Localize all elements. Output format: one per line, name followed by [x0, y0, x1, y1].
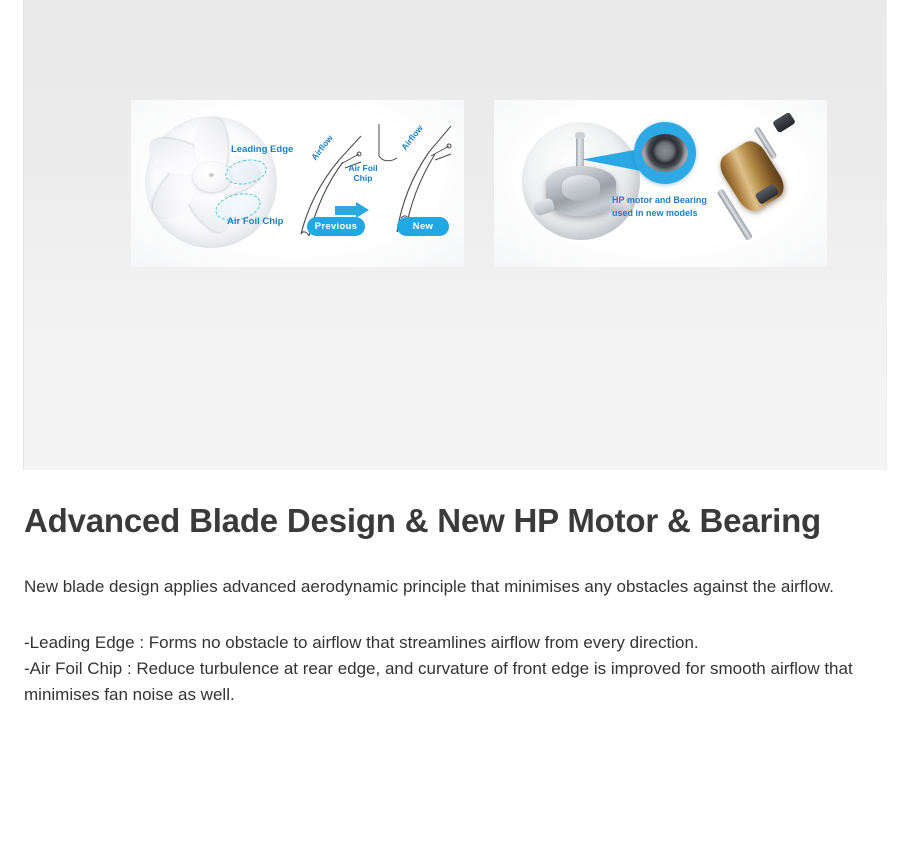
- rotor-nut-icon: [772, 112, 796, 134]
- blade-design-image-card: Leading Edge Air Foil Chip: [131, 100, 464, 267]
- hp-motor-illustration: HP motor and Bearing used in new models: [494, 100, 827, 267]
- leading-edge-label: Leading Edge: [231, 144, 293, 155]
- fan-illustration: [139, 106, 289, 261]
- hero-media-band: Leading Edge Air Foil Chip: [23, 0, 887, 470]
- feature-bullets-paragraph: -Leading Edge : Forms no obstacle to air…: [24, 630, 880, 709]
- new-badge: New: [397, 217, 449, 236]
- hp-motor-caption: HP motor and Bearing used in new models: [612, 194, 707, 220]
- intro-paragraph: New blade design applies advanced aerody…: [24, 574, 880, 600]
- motor-body-icon: [546, 166, 616, 216]
- arrow-right-icon: [335, 202, 369, 218]
- previous-badge: Previous: [307, 217, 365, 236]
- bearing-callout-circle: [634, 122, 696, 184]
- ball-bearing-icon: [642, 134, 688, 172]
- blade-design-illustration: Leading Edge Air Foil Chip: [131, 100, 464, 267]
- air-foil-chip-label: Air Foil Chip: [227, 216, 283, 227]
- air-foil-chip-callout-label: Air FoilChip: [347, 164, 379, 184]
- rotor-photo: [706, 114, 818, 256]
- media-cards-row: Leading Edge Air Foil Chip: [131, 100, 827, 267]
- article-content: Advanced Blade Design & New HP Motor & B…: [24, 500, 880, 709]
- hp-motor-image-card: HP motor and Bearing used in new models: [494, 100, 827, 267]
- hp-motor-caption-line1: HP motor and Bearing: [612, 194, 707, 207]
- motor-mount-foot-icon: [532, 197, 555, 216]
- hp-motor-caption-line2: used in new models: [612, 207, 707, 220]
- motor-assembly-photo: [522, 122, 640, 240]
- page-title: Advanced Blade Design & New HP Motor & B…: [24, 500, 880, 542]
- airfoil-comparison-diagram: Airflow Airflow Air FoilChip: [291, 114, 461, 259]
